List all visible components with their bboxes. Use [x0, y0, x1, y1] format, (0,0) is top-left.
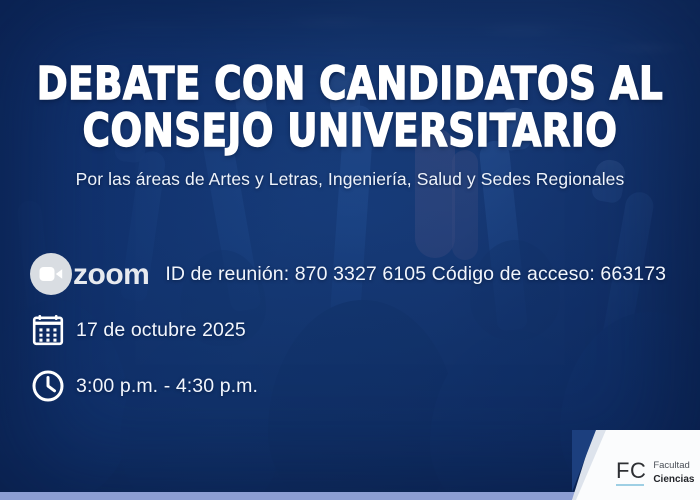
logo-line-1: Facultad — [653, 460, 694, 471]
event-time: 3:00 p.m. - 4:30 p.m. — [76, 375, 258, 398]
subtitle: Por las áreas de Artes y Letras, Ingenie… — [0, 169, 700, 190]
title-line-2: CONSEJO UNIVERSITARIO — [28, 107, 672, 154]
zoom-meeting-info: ID de reunión: 870 3327 6105 Código de a… — [165, 263, 666, 286]
clock-icon — [30, 368, 76, 404]
detail-row-date: 17 de octubre 2025 — [30, 302, 680, 358]
event-date: 17 de octubre 2025 — [76, 319, 246, 342]
logo-line-2: Ciencias — [653, 474, 694, 485]
logo-monogram: FC — [616, 461, 646, 480]
logo-wordmark: Facultad Ciencias — [653, 460, 694, 486]
details-list: zoom ID de reunión: 870 3327 6105 Código… — [30, 246, 680, 414]
page-title: DEBATE CON CANDIDATOS AL CONSEJO UNIVERS… — [28, 60, 672, 154]
logo-corner: FC Facultad Ciencias — [572, 430, 700, 500]
faculty-logo: FC Facultad Ciencias — [616, 460, 694, 486]
title-line-1: DEBATE CON CANDIDATOS AL — [28, 60, 672, 107]
zoom-wordmark: zoom — [73, 260, 149, 290]
calendar-icon — [30, 312, 76, 348]
detail-row-zoom: zoom ID de reunión: 870 3327 6105 Código… — [30, 246, 680, 302]
zoom-logo: zoom — [30, 253, 149, 295]
logo-accent-rule — [616, 484, 644, 487]
event-poster: DEBATE CON CANDIDATOS AL CONSEJO UNIVERS… — [0, 0, 700, 500]
detail-row-time: 3:00 p.m. - 4:30 p.m. — [30, 358, 680, 414]
logo-monogram-block: FC — [616, 461, 646, 487]
zoom-video-camera-icon — [30, 253, 72, 295]
